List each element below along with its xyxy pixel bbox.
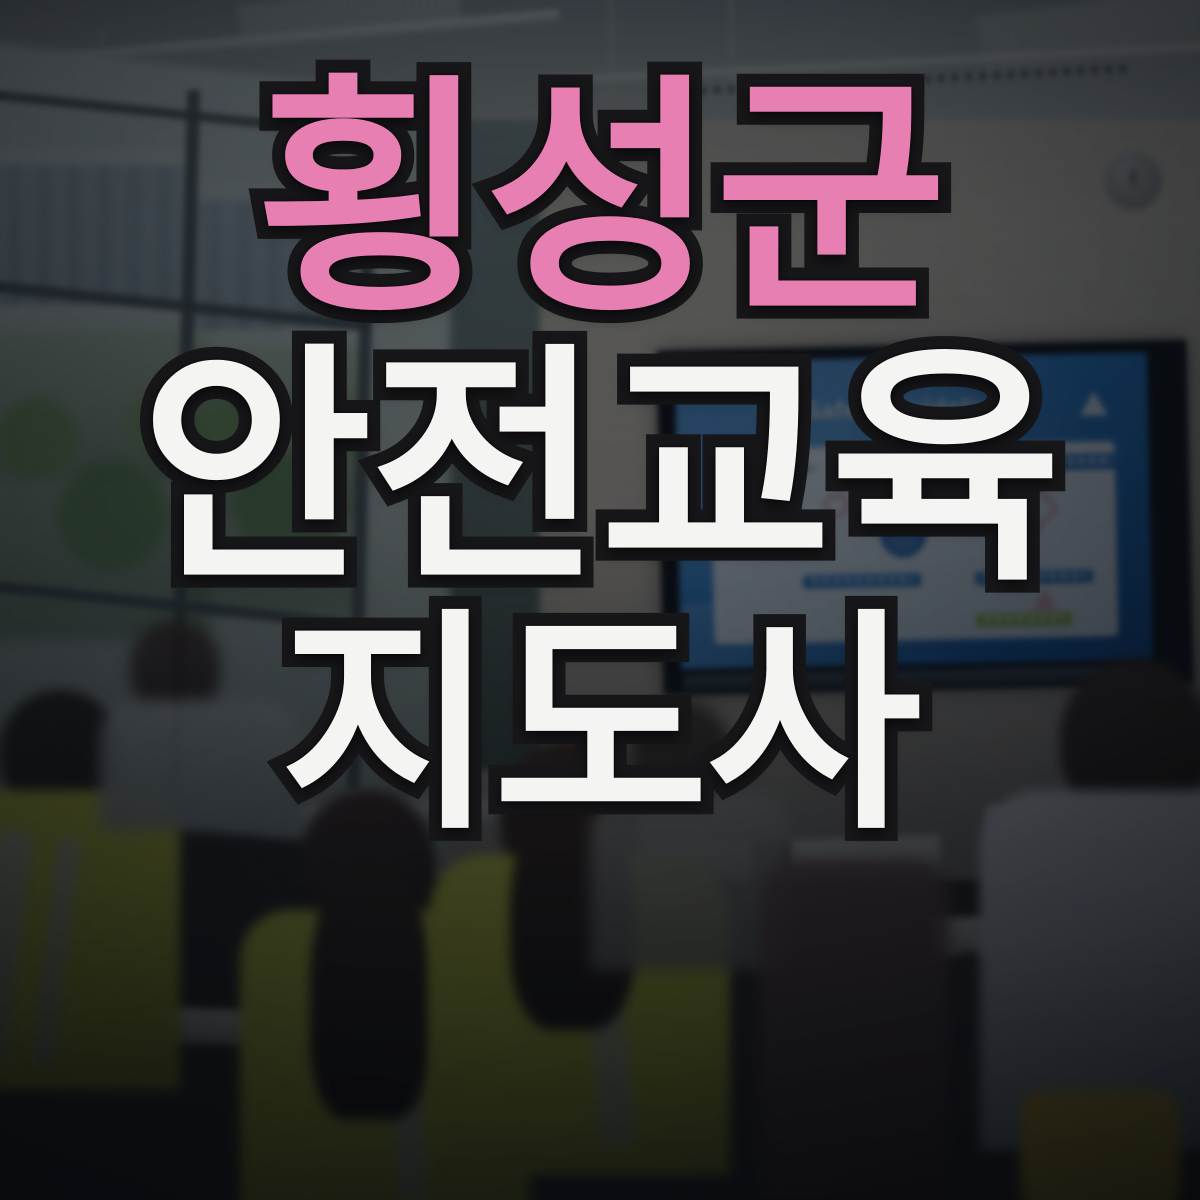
attendee xyxy=(1000,660,1200,1180)
hazard-icon xyxy=(862,496,884,518)
attendee-hair xyxy=(310,860,430,1120)
slide-label xyxy=(733,465,815,474)
wall-clock xyxy=(1104,152,1162,210)
outside-greenery xyxy=(185,345,365,615)
attendee xyxy=(600,700,780,960)
poster-canvas: Safety Guidelines xyxy=(0,0,1200,1200)
attendee-bag xyxy=(1020,1090,1180,1200)
attendee-hi-vis-vest xyxy=(0,790,180,1090)
hazard-icon xyxy=(823,493,849,519)
attendee xyxy=(760,860,950,1200)
info-icon xyxy=(880,511,927,558)
screen-content: Safety Guidelines xyxy=(675,352,1153,669)
slide-header-bar xyxy=(981,453,1121,472)
hazard-icon xyxy=(953,484,976,507)
presentation-screen: Safety Guidelines xyxy=(656,339,1193,695)
table-leg xyxy=(960,952,978,1122)
vest-reflective-strip xyxy=(31,837,80,1063)
vest-reflective-strip xyxy=(0,829,34,1061)
attendee-shirt xyxy=(760,860,950,1200)
screen-title: Safety Guidelines xyxy=(675,390,1148,429)
warning-triangle-icon xyxy=(1079,391,1107,416)
hazard-icon xyxy=(778,496,804,517)
attendee-shirt xyxy=(100,700,300,830)
attendee xyxy=(100,620,300,820)
background-photo: Safety Guidelines xyxy=(0,0,1200,1200)
hazard-icon xyxy=(1004,480,1061,537)
ceiling-wire xyxy=(610,0,613,100)
ceiling-wire xyxy=(730,0,733,86)
slide-header-bar xyxy=(849,456,961,474)
hazard-icon xyxy=(734,506,760,529)
